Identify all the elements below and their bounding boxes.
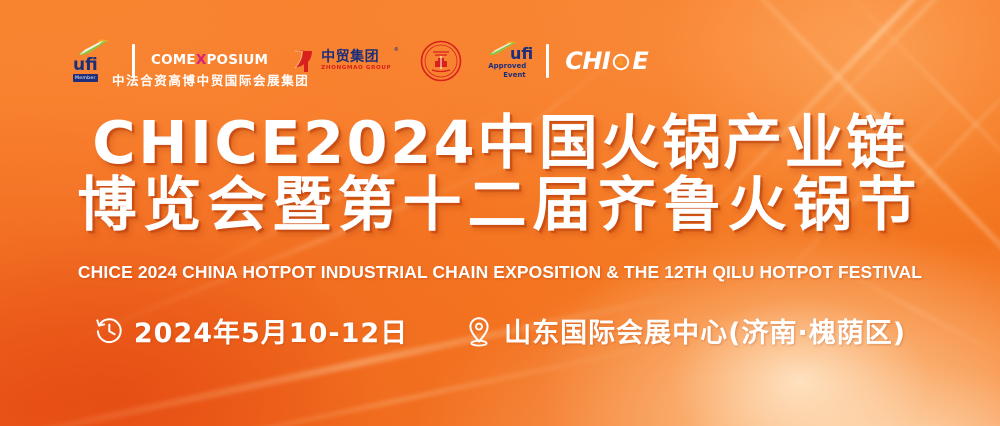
- chice-part2: E: [632, 49, 648, 73]
- logo-red-seal: [420, 40, 462, 82]
- event-banner: ufi Member COMEXPOSIUM 中贸集团 ZHONGMAO GRO…: [0, 0, 1000, 426]
- logo-ufi-member: ufi Member: [72, 37, 116, 85]
- ufi-member-label: Member: [73, 74, 98, 82]
- logo-strip-caption: 中法合资高博中贸国际会展集团: [112, 70, 309, 89]
- ufi-approved-label: Approved: [488, 63, 526, 70]
- ufi-wordmark: ufi: [510, 46, 533, 62]
- clock-icon: [94, 316, 124, 351]
- trademark-symbol: ®: [395, 47, 399, 53]
- hotpot-icon: [611, 51, 631, 71]
- comexposium-part1: COME: [151, 52, 196, 68]
- page-title-line1: CHICE2024中国火锅产业链: [0, 112, 1000, 174]
- ufi-wordmark: ufi: [73, 57, 98, 74]
- title-block: CHICE2024中国火锅产业链 博览会暨第十二届齐鲁火锅节: [0, 112, 1000, 236]
- logo-comexposium: COMEXPOSIUM: [151, 54, 268, 68]
- event-info-row: 2024年5月10-12日 山东国际会展中心(济南·槐荫区): [0, 315, 1000, 352]
- divider: [546, 44, 549, 78]
- event-date: 2024年5月10-12日: [94, 316, 408, 351]
- event-date-text: 2024年5月10-12日: [134, 320, 408, 347]
- logo-ufi-approved-event: ufi Approved Event: [487, 39, 533, 83]
- location-pin-icon: [464, 315, 494, 352]
- logo-chice: CHI E: [565, 49, 648, 73]
- red-seal-icon: [420, 40, 462, 82]
- chice-part1: CHI: [565, 49, 610, 73]
- page-title-line2: 博览会暨第十二届齐鲁火锅节: [0, 174, 1000, 236]
- zhongmao-en-name: ZHONGMAO GROUP: [321, 66, 391, 72]
- ufi-event-label: Event: [503, 72, 525, 79]
- zhongmao-cn-name: 中贸集团: [321, 50, 391, 64]
- event-venue-text: 山东国际会展中心(济南·槐荫区): [504, 320, 906, 347]
- page-subtitle-english: CHICE 2024 CHINA HOTPOT INDUSTRIAL CHAIN…: [0, 262, 1000, 283]
- comexposium-part2: POSIUM: [206, 52, 268, 68]
- event-venue: 山东国际会展中心(济南·槐荫区): [464, 315, 906, 352]
- comexposium-x: X: [196, 52, 207, 68]
